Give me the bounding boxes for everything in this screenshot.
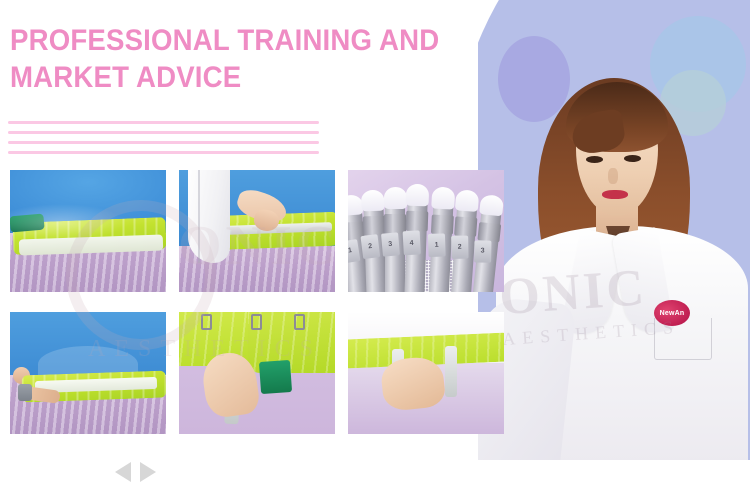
image-gallery-grid: 1 2 3 4	[10, 170, 504, 434]
page-title-line-1: PROFESSIONAL TRAINING AND	[10, 22, 452, 59]
nose	[608, 168, 618, 184]
gallery-image-closing-flap[interactable]	[179, 312, 335, 434]
portrait-bottom-mask	[478, 460, 750, 504]
gallery-image-suit-on-bed[interactable]	[10, 170, 166, 292]
decorative-rule-3	[8, 141, 319, 144]
carousel-next-arrow-icon[interactable]	[140, 462, 156, 482]
gallery-row-bottom	[10, 312, 504, 434]
page-title: PROFESSIONAL TRAINING AND MARKET ADVICE	[10, 22, 490, 96]
decorative-rule-1	[8, 121, 319, 124]
portrait-pane: NewAn ONIC AESTHETICS	[478, 0, 750, 504]
title-underline-rules	[8, 121, 319, 154]
gallery-image-client-lying[interactable]	[10, 312, 166, 434]
hose-tag: 1	[348, 239, 360, 263]
gallery-image-technician-adjusting[interactable]	[179, 170, 335, 292]
brand-badge: NewAn	[654, 300, 690, 326]
eye-left	[586, 156, 603, 163]
hose-tag: 4	[402, 231, 420, 256]
carousel-nav	[0, 462, 270, 482]
gallery-row-top: 1 2 3 4	[10, 170, 504, 292]
left-content-pane: PROFESSIONAL TRAINING AND MARKET ADVICE	[0, 0, 510, 504]
decorative-rule-4	[8, 151, 319, 154]
eye-right	[624, 155, 641, 162]
brand-badge-label: NewAn	[660, 310, 685, 317]
gallery-image-hose-connectors[interactable]: 1 2 3 4	[348, 170, 504, 292]
carousel-prev-arrow-icon[interactable]	[115, 462, 131, 482]
hose-tag: 1	[427, 233, 445, 257]
decorative-rule-2	[8, 131, 319, 134]
mouth	[602, 190, 628, 199]
gallery-image-pulling-strap[interactable]	[348, 312, 504, 434]
hose-tag: 3	[381, 232, 400, 257]
hose-tag: 2	[451, 236, 468, 259]
slide-root: PROFESSIONAL TRAINING AND MARKET ADVICE	[0, 0, 750, 504]
hose-tag: 2	[360, 235, 379, 260]
page-title-line-2: MARKET ADVICE	[10, 59, 452, 96]
hose-tag: 3	[474, 240, 491, 262]
consultant-portrait: NewAn	[478, 0, 750, 504]
